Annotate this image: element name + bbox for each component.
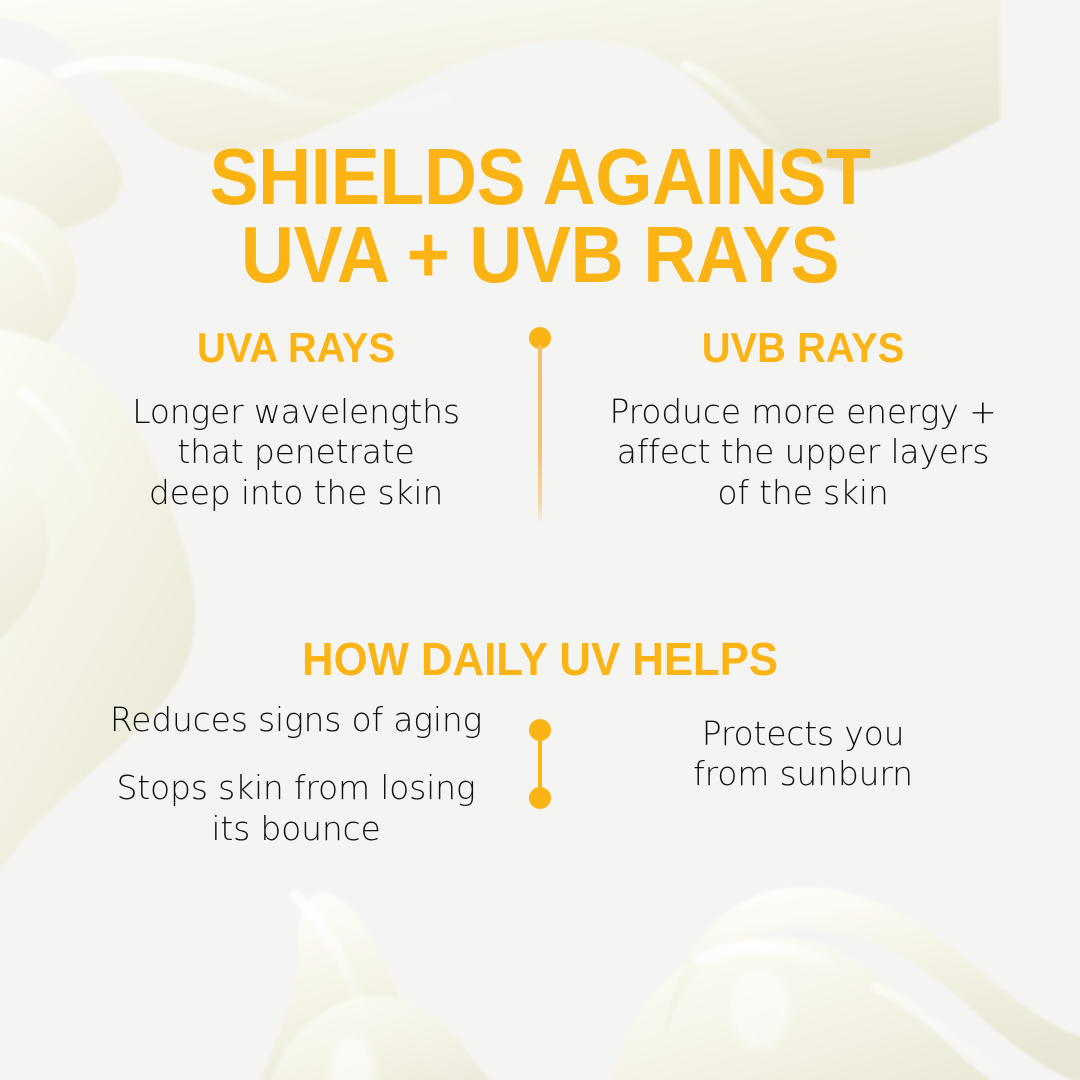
uvb-line-3: of the skin xyxy=(588,473,1018,513)
section-heading-how-daily-uv-helps: HOW DAILY UV HELPS xyxy=(27,636,1053,682)
uva-line-2: that penetrate xyxy=(81,432,511,472)
uva-rays-title: UVA RAYS xyxy=(92,326,501,370)
benefit-item: Protects you from sunburn xyxy=(588,714,1018,795)
benefits-column-right: Protects you from sunburn xyxy=(588,714,1018,795)
benefit-left-1-line-1: Reduces signs of aging xyxy=(81,700,511,740)
divider-dot-bottom-icon xyxy=(529,787,551,809)
uva-line-1: Longer wavelengths xyxy=(81,392,511,432)
uva-rays-column: UVA RAYS Longer wavelengths that penetra… xyxy=(81,326,511,513)
benefit-item: Stops skin from losing its bounce xyxy=(81,768,511,849)
uvb-rays-description: Produce more energy + affect the upper l… xyxy=(588,392,1018,513)
benefit-item: Reduces signs of aging xyxy=(81,700,511,740)
uva-line-3: deep into the skin xyxy=(81,473,511,513)
benefit-right-1-line-1: Protects you xyxy=(588,714,1018,754)
swirl-bottom xyxy=(250,887,1080,1080)
benefit-left-2-line-1: Stops skin from losing xyxy=(81,768,511,808)
uvb-line-1: Produce more energy + xyxy=(588,392,1018,432)
uvb-rays-title: UVB RAYS xyxy=(599,326,1008,370)
infographic-canvas: SHIELDS AGAINST UVA + UVB RAYS UVA RAYS … xyxy=(0,0,1080,1080)
benefits-column-left: Reduces signs of aging Stops skin from l… xyxy=(81,700,511,849)
headline-line-2: UVA + UVB RAYS xyxy=(43,216,1037,294)
benefit-right-1-line-2: from sunburn xyxy=(588,754,1018,794)
benefit-left-2-line-2: its bounce xyxy=(81,809,511,849)
uvb-line-2: affect the upper layers xyxy=(588,432,1018,472)
divider-line xyxy=(538,345,542,525)
rays-column-divider xyxy=(529,327,551,525)
page-title: SHIELDS AGAINST UVA + UVB RAYS xyxy=(43,138,1037,295)
uvb-rays-column: UVB RAYS Produce more energy + affect th… xyxy=(588,326,1018,513)
uva-rays-description: Longer wavelengths that penetrate deep i… xyxy=(81,392,511,513)
benefits-column-divider xyxy=(529,719,551,809)
headline-line-1: SHIELDS AGAINST xyxy=(43,138,1037,216)
